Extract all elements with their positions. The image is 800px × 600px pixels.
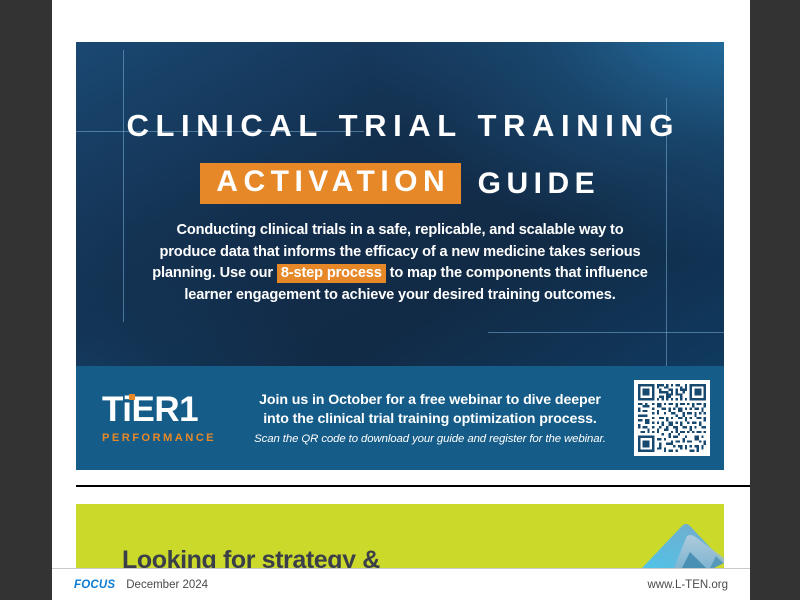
hero-footer-bar: TiER1 PERFORMANCE Join us in October for… (76, 366, 724, 470)
hero-activation-highlight: ACTIVATION (200, 163, 461, 204)
promo-title: Looking for strategy & (122, 546, 380, 568)
tier1-logo-wordmark: TiER1 (102, 392, 246, 427)
webinar-subline: Scan the QR code to download your guide … (246, 433, 614, 445)
qr-code-container[interactable] (620, 380, 724, 456)
tier1-logo-tagline: PERFORMANCE (102, 432, 246, 444)
tier1-logo-text: TiER1 (102, 390, 198, 429)
promo-banner: Looking for strategy & (76, 504, 724, 568)
hero-paragraph: Conducting clinical trials in a safe, re… (150, 220, 650, 306)
webinar-headline: Join us in October for a free webinar to… (246, 391, 614, 429)
screenshot-viewport: CLINICAL TRIAL TRAINING ACTIVATION GUIDE… (0, 0, 800, 600)
hero-banner: CLINICAL TRIAL TRAINING ACTIVATION GUIDE… (76, 42, 724, 470)
webinar-headline-line1: Join us in October for a free webinar to… (246, 391, 614, 410)
hero-guide-word: GUIDE (472, 169, 600, 199)
webinar-promo-text: Join us in October for a free webinar to… (246, 391, 620, 446)
tier1-logo: TiER1 PERFORMANCE (76, 392, 246, 444)
tier1-logo-dot-icon (129, 394, 135, 400)
hero-subtitle-row: ACTIVATION GUIDE (76, 163, 724, 204)
footer-brand: FOCUS (74, 579, 115, 591)
footer-url: www.L-TEN.org (647, 579, 728, 591)
footer-issue-date: December 2024 (126, 579, 208, 591)
section-divider (76, 485, 750, 487)
document-page: CLINICAL TRIAL TRAINING ACTIVATION GUIDE… (52, 0, 750, 600)
promo-art-icon (524, 522, 724, 568)
hero-title: CLINICAL TRIAL TRAINING (76, 108, 724, 144)
qr-code-icon[interactable] (634, 380, 710, 456)
webinar-headline-line2: into the clinical trial training optimiz… (246, 410, 614, 429)
promo-decorative-artwork (524, 522, 724, 568)
page-footer: FOCUS December 2024 www.L-TEN.org (52, 569, 750, 600)
hero-paragraph-highlight: 8-step process (277, 264, 386, 283)
